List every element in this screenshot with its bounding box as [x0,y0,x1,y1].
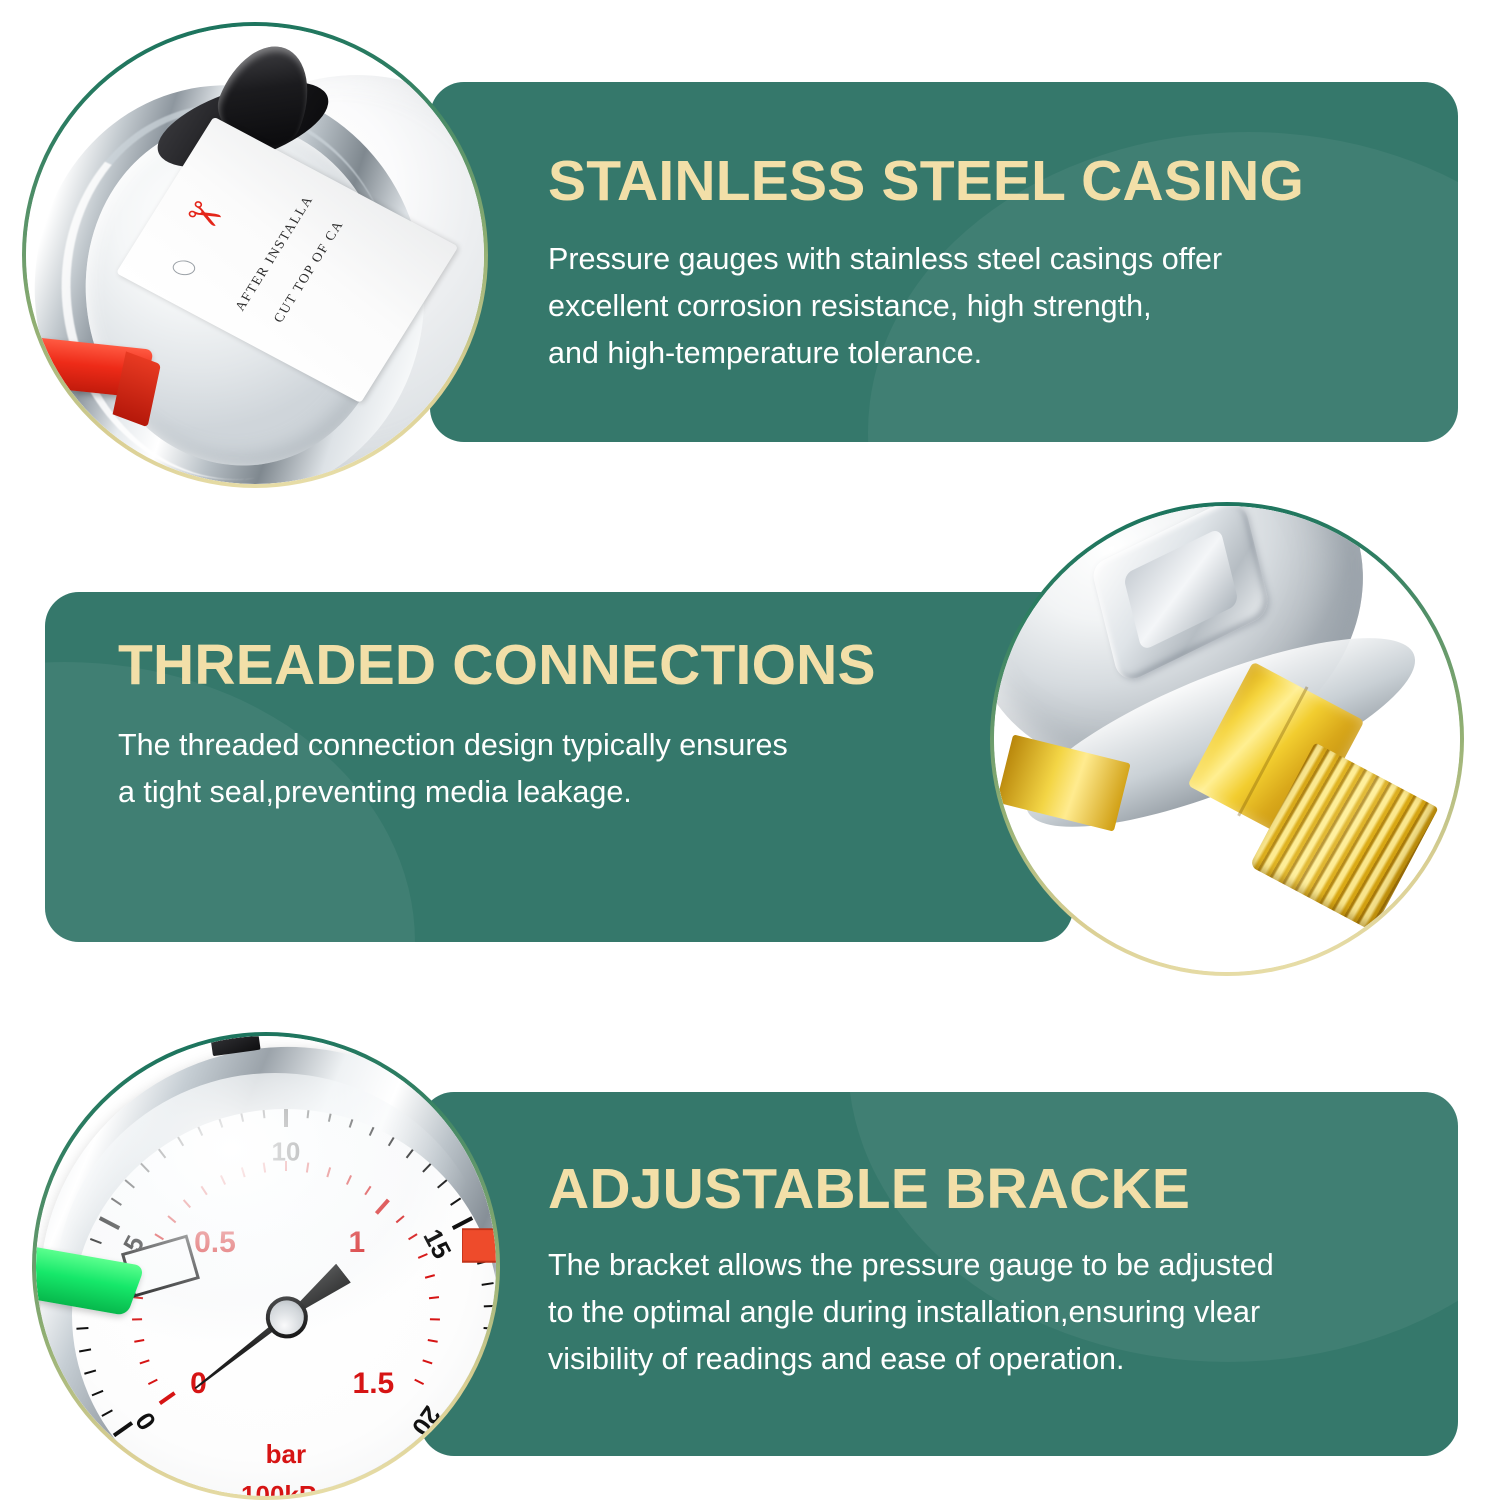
gauge-tick-mark [110,1198,121,1206]
gauge-tick-mark [422,1360,432,1365]
feature-image-adjustable-bracke: bar 100kPa 0510152000.511.5 [32,1032,500,1500]
gauge-tick-mark [424,1275,434,1280]
gauge-tick-mark [124,1179,134,1188]
gauge-tick-mark [469,1390,481,1396]
gauge-tick-mark [176,1135,184,1146]
gauge-tick-mark [84,1370,96,1375]
gauge-tick-mark [414,1379,424,1385]
gauge-tick-mark [484,1305,496,1308]
gauge-black-scale-label: 0 [129,1406,163,1436]
feature-text-adjustable-bracke: ADJUSTABLE BRACKE The bracket allows the… [548,1160,1274,1384]
gauge-tick-mark [285,1162,287,1172]
gauge-tick-mark [349,1116,355,1128]
gauge-tick-mark [155,1234,165,1241]
gauge-tick-mark [346,1176,352,1186]
gauge-tick-mark [183,1200,191,1209]
gauge-tick-mark [364,1186,371,1195]
gauge-tick-mark [167,1216,176,1224]
gauge-tick-mark [241,1168,246,1178]
gauge-black-scale-label: 15 [417,1224,458,1264]
threaded-connection-photo [994,506,1460,972]
gauge-tick-mark [437,1179,447,1188]
red-pointer-arrow [462,1212,496,1279]
gauge-tick-mark [306,1109,309,1118]
feature-body: The bracket allows the pressure gauge to… [548,1242,1274,1384]
gauge-tick-mark [201,1186,208,1195]
gauge-tick-mark [91,1390,103,1396]
gauge-tick-mark [157,1148,166,1159]
feature-title: THREADED CONNECTIONS [118,636,876,696]
gauge-tick-mark [90,1238,102,1244]
gauge-tick-mark [140,1360,150,1365]
gauge-tick-mark [429,1296,439,1299]
bubble-clip [994,506,1460,972]
bubble-clip: bar 100kPa 0510152000.511.5 [36,1036,496,1496]
gauge-tick-mark [459,1410,470,1418]
sticker-dot-icon [172,259,197,276]
feature-text-threaded-connections: THREADED CONNECTIONS The threaded connec… [118,636,876,816]
gauge-tick-mark [422,1163,432,1173]
gauge-tick-mark [484,1327,496,1330]
gauge-tick-mark [132,1318,142,1320]
sticker-line-1: AFTER INSTALLA [232,192,317,313]
gauge-tick-mark [159,1392,176,1405]
infographic-stage: STAINLESS STEEL CASING Pressure gauges w… [0,0,1500,1500]
gauge-tick-mark [140,1163,150,1173]
gauge-tick-mark [430,1318,440,1320]
gauge-black-scale-label: 20 [405,1400,447,1441]
feature-title: ADJUSTABLE BRACKE [548,1160,1274,1220]
gauge-tick-mark [306,1163,309,1173]
gauge-tick-mark [326,1168,331,1178]
feature-text-stainless-steel-casing: STAINLESS STEEL CASING Pressure gauges w… [548,152,1304,378]
gauge-tick-mark [217,1116,223,1128]
bubble-clip: ✂ AFTER INSTALLA CUT TOP OF CA [26,26,484,484]
gauge-tick-mark [395,1216,404,1224]
gauge-tick-mark [284,1109,288,1127]
feature-image-stainless-steel-casing: ✂ AFTER INSTALLA CUT TOP OF CA [22,22,488,488]
gauge-tick-mark [406,1148,415,1159]
feature-image-threaded-connections [990,502,1464,976]
gauge-tick-mark [134,1339,144,1343]
feature-body: The threaded connection design typically… [118,722,876,817]
pressure-gauge-dial-photo: bar 100kPa 0510152000.511.5 [36,1036,496,1496]
gauge-red-scale-label: 1 [349,1226,366,1260]
gauge-tick-mark [220,1176,226,1186]
gauge-tick-mark [101,1410,112,1418]
scissors-icon: ✂ [179,191,230,241]
gauge-tick-mark [427,1339,437,1343]
feature-body: Pressure gauges with stainless steel cas… [548,236,1304,378]
gauge-tick-mark [476,1370,488,1375]
gauge-tick-mark [79,1349,91,1353]
gauge-tick-mark [196,1124,203,1136]
gauge-tick-mark [375,1199,390,1215]
red-arrow-icon [462,1212,496,1279]
gauge-tick-mark [481,1349,493,1353]
gauge-red-scale-label: 1.5 [353,1367,395,1401]
gauge-tick-mark [148,1379,158,1385]
unit-label-kpa: 100kPa [241,1480,331,1496]
unit-label-bar: bar [266,1439,306,1470]
feature-title: STAINLESS STEEL CASING [548,152,1304,212]
gauge-tick-mark [450,1198,461,1206]
gauge-red-scale-label: 0.5 [194,1226,236,1260]
gauge-tick-mark [262,1109,265,1118]
gauge-red-scale-label: 0 [190,1367,207,1401]
gauge-casing-photo: ✂ AFTER INSTALLA CUT TOP OF CA [26,35,484,484]
gauge-tick-mark [263,1163,266,1173]
gauge-tick-mark [76,1327,88,1330]
gauge-tick-mark [388,1135,396,1146]
gauge-dial-face: bar 100kPa 0510152000.511.5 [72,1109,496,1496]
gauge-tick-mark [482,1282,494,1286]
gauge-needle [285,1315,288,1318]
gauge-tick-mark [99,1217,120,1230]
gauge-tick-mark [369,1124,376,1136]
